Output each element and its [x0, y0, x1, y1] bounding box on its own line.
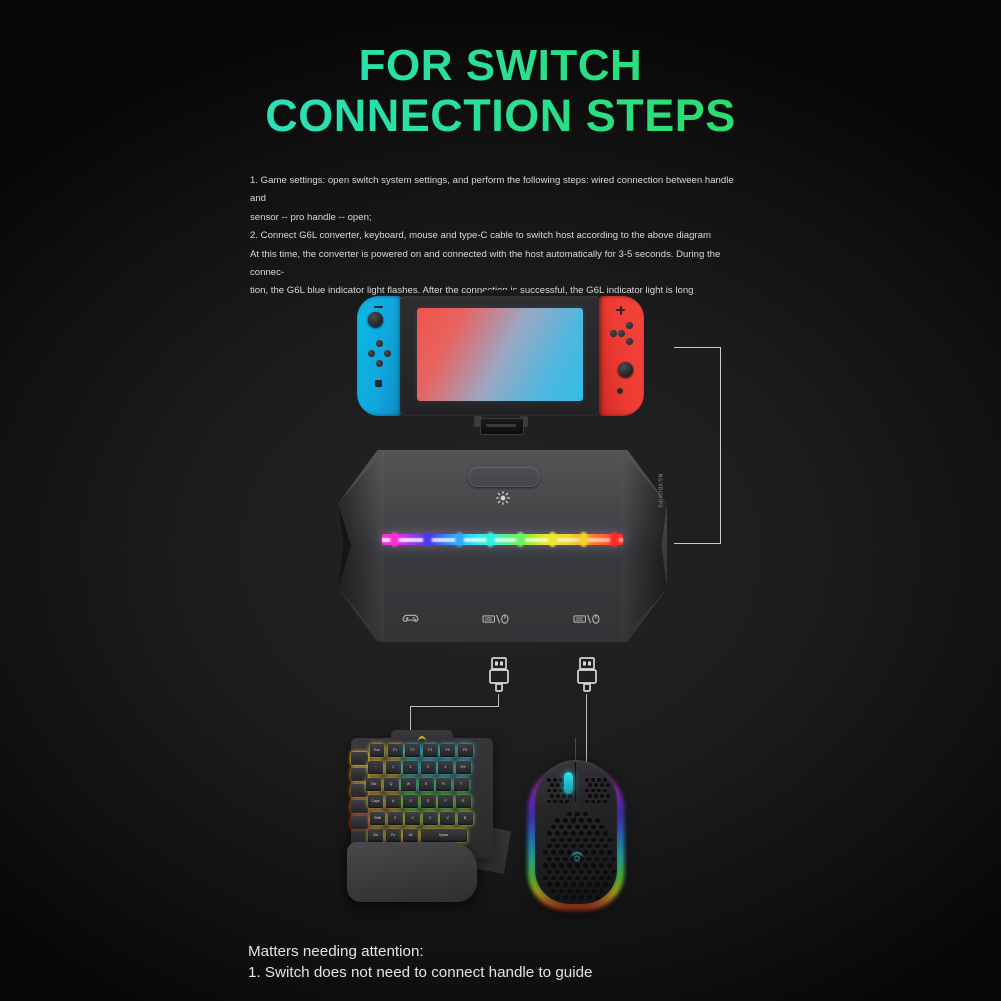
- honeycomb-hole: [575, 825, 580, 829]
- key[interactable]: W: [401, 778, 416, 791]
- key-label: 2: [403, 765, 418, 769]
- honeycomb-hole: [599, 838, 604, 842]
- key[interactable]: V: [440, 812, 455, 825]
- keyboard-wrist-rest: [347, 842, 477, 902]
- mouse-scroll-wheel[interactable]: [564, 772, 573, 794]
- key-label: F4: [440, 748, 455, 752]
- honeycomb-hole: [579, 895, 584, 899]
- honeycomb-hole: [553, 800, 557, 804]
- honeycomb-hole: [547, 870, 552, 874]
- key[interactable]: F4: [440, 744, 455, 757]
- honeycomb-hole: [597, 778, 601, 782]
- key[interactable]: D: [421, 795, 436, 808]
- key[interactable]: C: [423, 812, 438, 825]
- honeycomb-hole: [603, 778, 607, 782]
- honeycomb-hole: [550, 783, 554, 787]
- left-joycon: [357, 296, 402, 416]
- honeycomb-hole: [594, 783, 598, 787]
- honeycomb-hole: [583, 812, 588, 816]
- instruction-line-3: 2. Connect G6L converter, keyboard, mous…: [250, 227, 750, 245]
- converter-model-label: NS/XBOX/PS: [656, 474, 662, 508]
- honeycomb-hole: [559, 876, 564, 880]
- honeycomb-hole: [599, 863, 604, 867]
- key-label: F2: [405, 748, 420, 752]
- key[interactable]: F1: [388, 744, 403, 757]
- honeycomb-hole: [603, 882, 608, 886]
- power-button[interactable]: [468, 466, 540, 487]
- key-label: D: [421, 799, 436, 803]
- gaming-mouse: [528, 758, 624, 910]
- key-label: Space: [421, 833, 467, 837]
- instructions-block: 1. Game settings: open switch system set…: [250, 172, 750, 301]
- honeycomb-hole: [606, 783, 610, 787]
- honeycomb-hole: [571, 870, 576, 874]
- key[interactable]: R: [436, 778, 451, 791]
- right-analog-stick: [618, 362, 633, 377]
- key[interactable]: Caps: [368, 795, 383, 808]
- honeycomb-hole: [568, 794, 572, 798]
- honeycomb-hole: [563, 882, 568, 886]
- honeycomb-hole: [587, 844, 592, 848]
- key[interactable]: G: [456, 795, 471, 808]
- key-label: G: [456, 799, 471, 803]
- honeycomb-hole: [571, 882, 576, 886]
- keyboard-brand-logo-icon: [415, 733, 429, 744]
- honeycomb-hole: [607, 838, 612, 842]
- key[interactable]: Space: [421, 829, 467, 842]
- key-label: 5%: [456, 765, 471, 769]
- key-label: Ctrl: [368, 833, 383, 837]
- key-label: F1: [388, 748, 403, 752]
- dpad-down-icon: [376, 360, 383, 367]
- honeycomb-hole: [603, 831, 608, 835]
- honeycomb-hole: [575, 876, 580, 880]
- b-button-icon: [618, 330, 625, 337]
- key[interactable]: [351, 800, 368, 813]
- rgb-led: [516, 532, 525, 547]
- honeycomb-hole: [583, 876, 588, 880]
- honeycomb-hole: [597, 800, 601, 804]
- key-label: Alt: [403, 833, 418, 837]
- g6l-converter: NS/XBOX/PS: [338, 450, 667, 642]
- honeycomb-hole: [559, 800, 563, 804]
- key-label: Z: [388, 816, 403, 820]
- key[interactable]: ~: [368, 761, 383, 774]
- honeycomb-hole: [555, 895, 560, 899]
- nintendo-switch-console: [357, 296, 644, 416]
- key-label: Fn: [386, 833, 401, 837]
- honeycomb-hole: [551, 850, 556, 854]
- honeycomb-hole: [603, 789, 607, 793]
- honeycomb-hole: [559, 850, 564, 854]
- honeycomb-hole: [587, 895, 592, 899]
- honeycomb-hole: [595, 895, 600, 899]
- console-body: [400, 296, 601, 416]
- honeycomb-hole: [599, 876, 604, 880]
- honeycomb-hole: [547, 882, 552, 886]
- honeycomb-hole: [595, 844, 600, 848]
- key[interactable]: F2: [405, 744, 420, 757]
- key[interactable]: Alt: [403, 829, 418, 842]
- key[interactable]: 3: [421, 761, 436, 774]
- honeycomb-hole: [591, 889, 596, 893]
- honeycomb-hole: [606, 794, 610, 798]
- mouse-body: [535, 760, 617, 904]
- usb-plug-mouse-icon: [575, 656, 599, 696]
- usb-c-slot: [486, 424, 516, 427]
- key[interactable]: 4: [438, 761, 453, 774]
- plus-button-icon-v: [620, 306, 622, 315]
- honeycomb-hole: [599, 850, 604, 854]
- key-label: B: [458, 816, 473, 820]
- honeycomb-hole: [599, 889, 604, 893]
- honeycomb-hole: [555, 831, 560, 835]
- honeycomb-hole: [555, 870, 560, 874]
- key[interactable]: Esc: [370, 744, 384, 757]
- usb-plug-keyboard-icon: [487, 656, 511, 696]
- key[interactable]: Shift: [370, 812, 385, 825]
- honeycomb-hole: [562, 794, 566, 798]
- honeycomb-hole: [567, 889, 572, 893]
- mouse-cable-segment: [586, 694, 587, 766]
- honeycomb-hole: [559, 863, 564, 867]
- title-line-2: CONNECTION STEPS: [0, 91, 1001, 141]
- honeycomb-hole: [550, 794, 554, 798]
- key[interactable]: F5: [458, 744, 473, 757]
- honeycomb-hole: [595, 857, 600, 861]
- honeycomb-hole: [543, 850, 548, 854]
- key-label: X: [405, 816, 420, 820]
- honeycomb-hole: [567, 838, 572, 842]
- home-button-icon: [617, 388, 623, 394]
- honeycomb-hole: [563, 870, 568, 874]
- instruction-line-2: sensor -- pro handle -- open;: [250, 209, 750, 227]
- honeycomb-hole: [551, 889, 556, 893]
- honeycomb-hole: [553, 789, 557, 793]
- converter-port-row: [338, 612, 667, 632]
- key[interactable]: 1: [386, 761, 401, 774]
- honeycomb-hole: [559, 825, 564, 829]
- honeycomb-hole: [543, 876, 548, 880]
- mouse-honeycomb-shell: [535, 760, 617, 904]
- mouse-cable: [575, 738, 576, 762]
- rgb-led: [548, 532, 557, 547]
- dpad-up-icon: [376, 340, 383, 347]
- key[interactable]: 5%: [456, 761, 471, 774]
- honeycomb-hole: [559, 838, 564, 842]
- honeycomb-hole: [591, 863, 596, 867]
- honeycomb-hole: [583, 889, 588, 893]
- honeycomb-hole: [547, 844, 552, 848]
- honeycomb-hole: [579, 831, 584, 835]
- honeycomb-hole: [591, 838, 596, 842]
- honeycomb-hole: [591, 789, 595, 793]
- key-label: V: [440, 816, 455, 820]
- honeycomb-hole: [547, 789, 551, 793]
- x-button-icon: [626, 322, 633, 329]
- honeycomb-hole: [547, 800, 551, 804]
- honeycomb-hole: [588, 794, 592, 798]
- y-button-icon: [610, 330, 617, 337]
- honeycomb-hole: [555, 818, 560, 822]
- honeycomb-hole: [607, 850, 612, 854]
- honeycomb-hole: [559, 789, 563, 793]
- honeycomb-hole: [551, 825, 556, 829]
- key[interactable]: F3: [423, 744, 438, 757]
- honeycomb-hole: [547, 857, 552, 861]
- key[interactable]: Tab: [366, 778, 381, 791]
- key-label: W: [401, 782, 416, 786]
- key[interactable]: Ctrl: [368, 829, 383, 842]
- key-label: E: [419, 782, 434, 786]
- honeycomb-hole: [551, 876, 556, 880]
- mouse-brand-logo-icon: [567, 848, 587, 864]
- honeycomb-hole: [575, 889, 580, 893]
- key[interactable]: [351, 752, 368, 765]
- honeycomb-hole: [567, 876, 572, 880]
- honeycomb-hole: [595, 818, 600, 822]
- honeycomb-hole: [559, 889, 564, 893]
- honeycomb-hole: [567, 825, 572, 829]
- gamepad-port-icon: [402, 612, 419, 625]
- key[interactable]: Z: [388, 812, 403, 825]
- honeycomb-hole: [579, 818, 584, 822]
- rgb-led: [423, 532, 432, 547]
- honeycomb-hole: [559, 778, 563, 782]
- honeycomb-hole: [594, 794, 598, 798]
- honeycomb-hole: [585, 778, 589, 782]
- key-label: C: [423, 816, 438, 820]
- instruction-line-4: At this time, the converter is powered o…: [250, 246, 750, 283]
- honeycomb-hole: [585, 789, 589, 793]
- honeycomb-hole: [611, 870, 616, 874]
- honeycomb-hole: [591, 850, 596, 854]
- honeycomb-hole: [579, 870, 584, 874]
- keyboard-cable-segment: [410, 706, 499, 707]
- honeycomb-hole: [600, 794, 604, 798]
- key[interactable]: S: [403, 795, 418, 808]
- rgb-led: [610, 532, 619, 547]
- honeycomb-hole: [551, 863, 556, 867]
- one-handed-gaming-keyboard: EscF1F2F3F4F5~12345%TabQWERTCapsASDFGShi…: [343, 730, 515, 910]
- infographic-canvas: FOR SWITCH CONNECTION STEPS 1. Game sett…: [0, 0, 1001, 1001]
- instruction-line-1: 1. Game settings: open switch system set…: [250, 172, 750, 209]
- key[interactable]: [351, 816, 368, 829]
- key[interactable]: Q: [384, 778, 399, 791]
- key-label: 3: [421, 765, 436, 769]
- capture-button-icon: [375, 380, 382, 387]
- dpad-right-icon: [384, 350, 391, 357]
- honeycomb-hole: [591, 825, 596, 829]
- rgb-light-strip: [382, 534, 623, 545]
- honeycomb-hole: [543, 863, 548, 867]
- honeycomb-hole: [551, 838, 556, 842]
- honeycomb-hole: [553, 778, 557, 782]
- key-label: S: [403, 799, 418, 803]
- usb-c-plug: [474, 416, 528, 438]
- key[interactable]: B: [458, 812, 473, 825]
- honeycomb-hole: [555, 844, 560, 848]
- key[interactable]: T: [454, 778, 469, 791]
- console-screen: [417, 308, 583, 401]
- honeycomb-hole: [563, 895, 568, 899]
- key-label: F5: [458, 748, 473, 752]
- honeycomb-hole: [611, 857, 616, 861]
- honeycomb-hole: [587, 870, 592, 874]
- key[interactable]: E: [419, 778, 434, 791]
- honeycomb-hole: [563, 818, 568, 822]
- honeycomb-hole: [595, 831, 600, 835]
- honeycomb-hole: [591, 876, 596, 880]
- keyboard-mouse-port-icon: [482, 612, 509, 625]
- rgb-led: [579, 532, 588, 547]
- honeycomb-hole: [607, 876, 612, 880]
- honeycomb-hole: [575, 838, 580, 842]
- honeycomb-hole: [603, 844, 608, 848]
- rgb-led: [486, 532, 495, 547]
- honeycomb-hole: [591, 800, 595, 804]
- right-joycon: [599, 296, 644, 416]
- honeycomb-hole: [599, 825, 604, 829]
- a-button-icon: [626, 338, 633, 345]
- key-label: R: [436, 782, 451, 786]
- honeycomb-hole: [571, 895, 576, 899]
- honeycomb-hole: [565, 800, 569, 804]
- honeycomb-hole: [603, 800, 607, 804]
- rgb-led: [455, 532, 464, 547]
- connection-bracket: [674, 347, 721, 544]
- keyboard-mouse-port-icon: [573, 612, 600, 625]
- honeycomb-hole: [588, 783, 592, 787]
- honeycomb-hole: [556, 783, 560, 787]
- key-label: Esc: [370, 748, 384, 752]
- honeycomb-hole: [583, 838, 588, 842]
- honeycomb-hole: [567, 812, 572, 816]
- honeycomb-hole: [555, 882, 560, 886]
- honeycomb-hole: [571, 831, 576, 835]
- honeycomb-hole: [600, 783, 604, 787]
- honeycomb-hole: [603, 870, 608, 874]
- rgb-led: [390, 532, 399, 547]
- honeycomb-hole: [547, 831, 552, 835]
- honeycomb-hole: [607, 863, 612, 867]
- dpad-left-icon: [368, 350, 375, 357]
- honeycomb-hole: [587, 857, 592, 861]
- honeycomb-hole: [575, 812, 580, 816]
- page-title: FOR SWITCH CONNECTION STEPS: [0, 42, 1001, 141]
- attention-note: Matters needing attention: 1. Switch doe…: [248, 941, 593, 983]
- honeycomb-hole: [587, 831, 592, 835]
- key-label: Caps: [368, 799, 383, 803]
- note-item-1: 1. Switch does not need to connect handl…: [248, 962, 593, 983]
- key[interactable]: 2: [403, 761, 418, 774]
- key[interactable]: Fn: [386, 829, 401, 842]
- key-label: A: [386, 799, 401, 803]
- key-label: T: [454, 782, 469, 786]
- brightness-icon: [496, 491, 510, 505]
- honeycomb-hole: [595, 870, 600, 874]
- honeycomb-hole: [556, 794, 560, 798]
- honeycomb-hole: [547, 778, 551, 782]
- key-label: 1: [386, 765, 401, 769]
- honeycomb-hole: [597, 789, 601, 793]
- honeycomb-hole: [583, 825, 588, 829]
- key[interactable]: F: [438, 795, 453, 808]
- left-analog-stick: [368, 312, 383, 327]
- key-label: Shift: [370, 816, 385, 820]
- minus-button-icon: [374, 306, 383, 308]
- key-label: 4: [438, 765, 453, 769]
- honeycomb-hole: [585, 800, 589, 804]
- honeycomb-hole: [555, 857, 560, 861]
- honeycomb-hole: [587, 882, 592, 886]
- key-label: Q: [384, 782, 399, 786]
- honeycomb-hole: [579, 882, 584, 886]
- key[interactable]: A: [386, 795, 401, 808]
- key-label: ~: [368, 765, 383, 769]
- honeycomb-hole: [591, 778, 595, 782]
- honeycomb-hole: [587, 818, 592, 822]
- honeycomb-hole: [595, 882, 600, 886]
- key-label: F: [438, 799, 453, 803]
- note-heading: Matters needing attention:: [248, 941, 593, 962]
- honeycomb-hole: [563, 831, 568, 835]
- title-line-1: FOR SWITCH: [0, 42, 1001, 91]
- key-label: F3: [423, 748, 438, 752]
- key[interactable]: X: [405, 812, 420, 825]
- honeycomb-hole: [571, 818, 576, 822]
- key-label: Tab: [366, 782, 381, 786]
- honeycomb-hole: [603, 857, 608, 861]
